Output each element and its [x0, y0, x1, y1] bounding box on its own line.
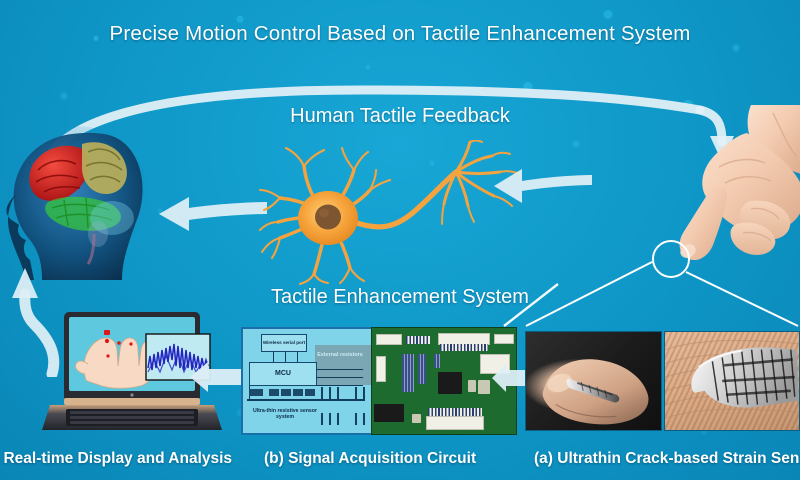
human-head-brain-illustration	[2, 122, 152, 282]
caption-panel-b: (b) Signal Acquisition Circuit	[264, 450, 476, 468]
fingertip-strain-sensor-photo	[525, 331, 662, 431]
figure-title: Precise Motion Control Based on Tactile …	[0, 22, 800, 46]
arrow-circuit-to-laptop	[188, 360, 244, 394]
caption-panel-a: (a) Ultrathin Crack-based Strain Sens	[534, 450, 800, 468]
section-title-system: Tactile Enhancement System	[0, 286, 800, 309]
arrow-hand-to-neuron	[490, 164, 595, 208]
neuron-illustration	[258, 140, 523, 285]
external-resistors-label: External resistors	[317, 347, 363, 363]
wireless-serial-port-block: Wireless serial port	[261, 334, 307, 352]
figure-canvas: Precise Motion Control Based on Tactile …	[0, 0, 800, 480]
signal-acquisition-schematic: Wireless serial port MCU External resist…	[241, 327, 380, 435]
caption-panel-c: ) Real-time Display and Analysis	[0, 450, 232, 468]
arrow-neuron-to-brain	[155, 192, 270, 236]
mcu-block: MCU	[249, 362, 317, 386]
crack-based-sensor-on-skin-photo	[664, 331, 800, 431]
ultra-thin-sensor-label: Ultra-thin resistive sensor system	[247, 403, 323, 425]
